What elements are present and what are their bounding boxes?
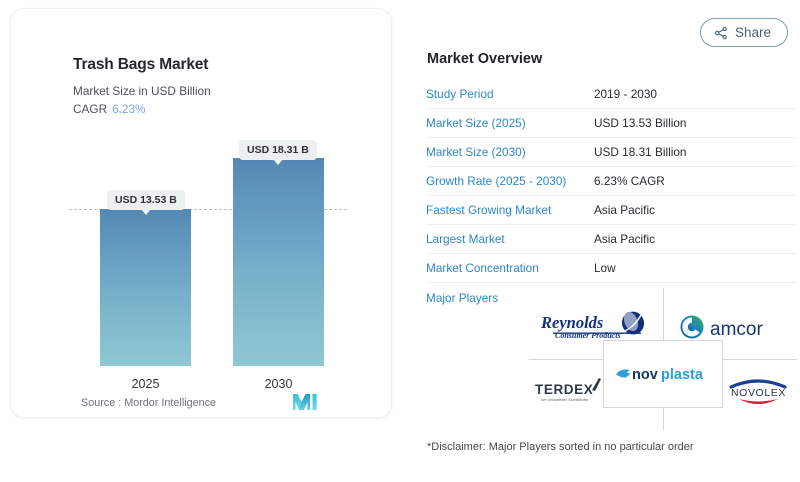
row-key: Market Size (2025) [426, 116, 594, 130]
table-row: Growth Rate (2025 - 2030) 6.23% CAGR [426, 167, 796, 196]
major-players-label: Major Players [426, 291, 498, 305]
major-players-quadrant: Reynolds Consumer Products [529, 288, 797, 430]
share-button-label: Share [735, 25, 771, 40]
player-logo-novplasta: nov plasta [603, 340, 723, 408]
row-key: Market Concentration [426, 261, 594, 275]
market-overview-panel: Share Market Overview Study Period 2019 … [410, 0, 800, 482]
disclaimer-text: *Disclaimer: Major Players sorted in no … [427, 441, 694, 453]
row-value: 2019 - 2030 [594, 87, 657, 101]
svg-text:Wir verarbeiten Kunststoffe: Wir verarbeiten Kunststoffe [541, 397, 588, 402]
reynolds-wordmark: Reynolds [540, 313, 603, 332]
amcor-wordmark: amcor [710, 319, 763, 340]
chart-card: Trash Bags Market Market Size in USD Bil… [10, 8, 392, 418]
row-key: Fastest Growing Market [426, 203, 594, 217]
x-axis-tick-2025: 2025 [100, 377, 191, 391]
novplasta-wordmark-nov: nov [632, 367, 658, 383]
svg-text:Consumer Products: Consumer Products [555, 331, 621, 340]
row-key: Study Period [426, 87, 594, 101]
market-overview-table: Study Period 2019 - 2030 Market Size (20… [426, 80, 796, 313]
table-row: Study Period 2019 - 2030 [426, 80, 796, 109]
row-value: Asia Pacific [594, 232, 655, 246]
bar-value-label-2030: USD 18.31 B [239, 140, 317, 160]
row-value: USD 13.53 Billion [594, 116, 686, 130]
player-logo-terdex: TERDEX Wir verarbeiten Kunststoffe [529, 372, 607, 408]
terdex-wordmark: TERDEX [535, 382, 593, 397]
bar-value-label-2025: USD 13.53 B [107, 190, 185, 210]
bar-chart-plot: USD 13.53 B USD 18.31 B 2025 2030 [11, 9, 393, 419]
share-button[interactable]: Share [700, 18, 788, 47]
table-row: Market Size (2030) USD 18.31 Billion [426, 138, 796, 167]
table-row: Largest Market Asia Pacific [426, 225, 796, 254]
row-key: Market Size (2030) [426, 145, 594, 159]
overview-title: Market Overview [427, 51, 542, 67]
row-value: 6.23% CAGR [594, 174, 665, 188]
row-key: Largest Market [426, 232, 594, 246]
market-snapshot-page: Trash Bags Market Market Size in USD Bil… [0, 0, 800, 482]
row-value: Asia Pacific [594, 203, 655, 217]
x-axis-tick-2030: 2030 [233, 377, 324, 391]
row-value: USD 18.31 Billion [594, 145, 686, 159]
chart-source: Source : Mordor Intelligence [81, 397, 216, 409]
player-logo-novolex: NOVOLEX [719, 372, 797, 408]
mordor-intelligence-logo-icon [292, 392, 322, 412]
row-key: Growth Rate (2025 - 2030) [426, 174, 594, 188]
row-value: Low [594, 261, 616, 275]
table-row: Market Concentration Low [426, 254, 796, 283]
novolex-wordmark: NOVOLEX [731, 387, 786, 399]
table-row: Fastest Growing Market Asia Pacific [426, 196, 796, 225]
bar-2025[interactable] [100, 209, 191, 366]
table-row: Market Size (2025) USD 13.53 Billion [426, 109, 796, 138]
bar-2030[interactable] [233, 158, 324, 366]
share-icon [714, 26, 728, 40]
novplasta-wordmark-plasta: plasta [661, 367, 704, 383]
